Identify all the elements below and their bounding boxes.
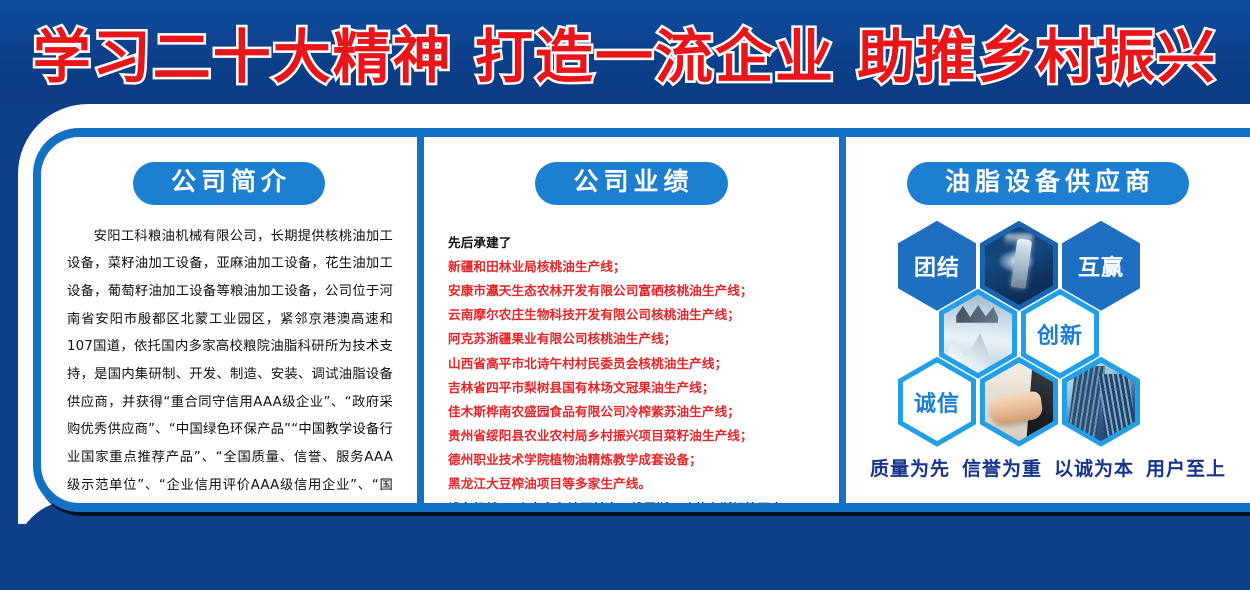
performance-project-line: 德州职业技术学院植物油精炼教学成套设备； bbox=[448, 448, 839, 472]
performance-project-line: 贵州省绥阳县农业农村局乡村振兴项目菜籽油生产线； bbox=[448, 424, 839, 448]
performance-list: 先后承建了 新疆和田林业局核桃油生产线；安康市瀛天生态农林开发有限公司富硒核桃油… bbox=[448, 231, 839, 503]
success-mountain-icon bbox=[944, 295, 1012, 373]
performance-project-lines: 新疆和田林业局核桃油生产线；安康市瀛天生态农林开发有限公司富硒核桃油生产线；云南… bbox=[448, 255, 839, 497]
performance-footer-lines: 设备畅销26个省市和地区并出口俄罗斯、哈萨克斯坦等国家。企业始终坚持“专注质量，… bbox=[448, 497, 839, 503]
performance-project-line: 新疆和田林业局核桃油生产线； bbox=[448, 255, 839, 279]
panel-company-performance: 公司业绩 先后承建了 新疆和田林业局核桃油生产线；安康市瀛天生态农林开发有限公司… bbox=[424, 137, 839, 503]
panel-row: 公司简介 安阳工科粮油机械有限公司，长期提供核桃油加工设备，菜籽油加工设备，亚麻… bbox=[41, 137, 1250, 503]
hex-chuangxin-label: 创新 bbox=[1037, 318, 1083, 350]
slogan-part: 质量为先 bbox=[870, 458, 950, 480]
values-slogan: 质量为先信誉为重以诚为本用户至上 bbox=[846, 454, 1250, 481]
hex-chengxin-label: 诚信 bbox=[914, 386, 960, 418]
header-title: 学习二十大精神 打造一流企业 助推乡村振兴 bbox=[33, 10, 1217, 94]
hex-huying-label: 互赢 bbox=[1078, 250, 1124, 282]
hex-tuanjie-label: 团结 bbox=[914, 250, 960, 282]
aircraft-carrier-icon bbox=[985, 227, 1053, 305]
panel2-badge-wrap: 公司业绩 bbox=[424, 162, 839, 205]
bottom-blue-strip bbox=[0, 524, 1250, 590]
panel1-badge-wrap: 公司简介 bbox=[41, 162, 417, 205]
panel1-badge: 公司简介 bbox=[133, 162, 325, 205]
performance-project-line: 山西省高平市北诗午村村民委员会核桃油生产线； bbox=[448, 352, 839, 376]
hex-chengxin-inner: 诚信 bbox=[903, 363, 971, 441]
performance-project-line: 吉林省四平市梨树县国有林场文冠果油生产线； bbox=[448, 376, 839, 400]
panel3-badge: 油脂设备供应商 bbox=[907, 162, 1189, 205]
panel3-badge-wrap: 油脂设备供应商 bbox=[846, 162, 1250, 205]
slogan-part: 以诚为本 bbox=[1054, 458, 1134, 480]
slogan-part: 用户至上 bbox=[1146, 458, 1226, 480]
content-frame: 公司简介 安阳工科粮油机械有限公司，长期提供核桃油加工设备，菜籽油加工设备，亚麻… bbox=[33, 128, 1250, 512]
panel-supplier-values: 油脂设备供应商 团结 互赢 bbox=[846, 137, 1250, 503]
performance-intro: 先后承建了 bbox=[448, 231, 839, 255]
performance-project-line: 阿克苏浙疆果业有限公司核桃油生产线； bbox=[448, 327, 839, 351]
company-profile-text: 安阳工科粮油机械有限公司，长期提供核桃油加工设备，菜籽油加工设备，亚麻油加工设备… bbox=[67, 223, 393, 503]
performance-project-line: 云南摩尔农庄生物科技开发有限公司核桃油生产线； bbox=[448, 303, 839, 327]
panel-company-profile: 公司简介 安阳工科粮油机械有限公司，长期提供核桃油加工设备，菜籽油加工设备，亚麻… bbox=[41, 137, 417, 503]
performance-footer-line: 设备畅销26个省市和地区并出口俄罗斯、哈萨克斯坦等国家。 bbox=[448, 497, 839, 503]
header-banner: 学习二十大精神 打造一流企业 助推乡村振兴 bbox=[0, 0, 1250, 104]
hexagon-honeycomb: 团结 互赢 创新 bbox=[846, 217, 1250, 449]
hex-tuanjie-inner: 团结 bbox=[903, 227, 971, 305]
hex-chuangxin-inner: 创新 bbox=[1026, 295, 1094, 373]
performance-project-line: 佳木斯桦南农盛园食品有限公司冷榨紫苏油生产线； bbox=[448, 400, 839, 424]
performance-project-line: 黑龙江大豆榨油项目等多家生产线。 bbox=[448, 472, 839, 496]
skyscraper-icon bbox=[1067, 363, 1135, 441]
hex-huying-inner: 互赢 bbox=[1067, 227, 1135, 305]
handshake-icon bbox=[985, 363, 1053, 441]
slogan-part: 信誉为重 bbox=[962, 458, 1042, 480]
performance-project-line: 安康市瀛天生态农林开发有限公司富硒核桃油生产线； bbox=[448, 279, 839, 303]
panel2-badge: 公司业绩 bbox=[535, 162, 727, 205]
